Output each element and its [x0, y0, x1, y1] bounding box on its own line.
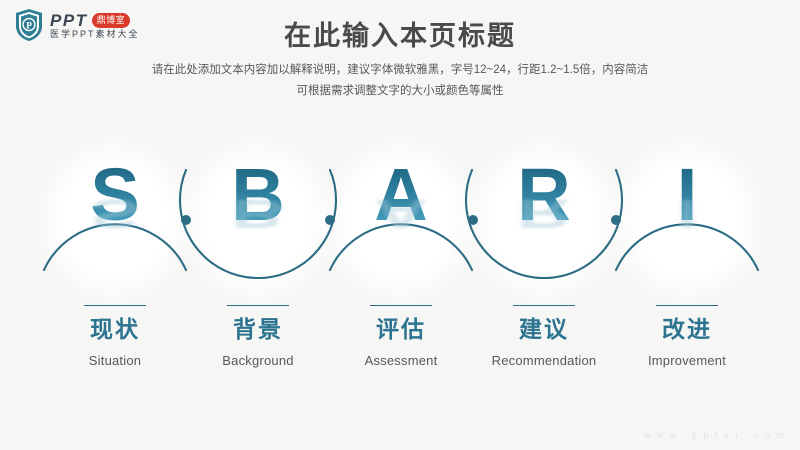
step-labels: 现状 Situation 背景 Background 评估 Assessment… — [0, 305, 800, 400]
subtitle-line-1: 请在此处添加文本内容加以解释说明，建议字体微软雅黑，字号12~24，行距1.2~… — [0, 60, 800, 81]
label-en: Improvement — [607, 354, 767, 368]
label-divider — [370, 305, 432, 306]
acronym-letters: S S B B A A R R I I — [0, 130, 800, 310]
acronym-letter-reflection: A — [321, 193, 481, 234]
label-divider — [84, 305, 146, 306]
label-divider — [227, 305, 289, 306]
label-en: Background — [178, 354, 338, 368]
sbari-diagram: S S B B A A R R I I — [0, 130, 800, 310]
letter-cell-b: B B — [178, 130, 338, 310]
label-en: Recommendation — [464, 354, 624, 368]
label-en: Situation — [35, 354, 195, 368]
label-cn: 改进 — [607, 317, 767, 342]
letter-cell-r: R R — [464, 130, 624, 310]
step-label-situation[interactable]: 现状 Situation — [35, 305, 195, 369]
label-divider — [656, 305, 718, 306]
acronym-letter-reflection: R — [464, 193, 624, 234]
footer-watermark: w w w . p p t e r . c o m — [644, 430, 786, 440]
page-subtitle: 请在此处添加文本内容加以解释说明，建议字体微软雅黑，字号12~24，行距1.2~… — [0, 60, 800, 103]
acronym-letter-reflection: B — [178, 193, 338, 234]
label-divider — [513, 305, 575, 306]
page-title: 在此输入本页标题 — [0, 14, 800, 53]
acronym-letter-reflection: I — [607, 193, 767, 234]
letter-cell-a: A A — [321, 130, 481, 310]
label-cn: 评估 — [321, 317, 481, 342]
step-label-improvement[interactable]: 改进 Improvement — [607, 305, 767, 369]
label-en: Assessment — [321, 354, 481, 368]
letter-cell-s: S S — [35, 130, 195, 310]
label-cn: 建议 — [464, 317, 624, 342]
step-label-background[interactable]: 背景 Background — [178, 305, 338, 369]
step-label-recommendation[interactable]: 建议 Recommendation — [464, 305, 624, 369]
label-cn: 现状 — [35, 317, 195, 342]
subtitle-line-2: 可根据需求调整文字的大小或颜色等属性 — [0, 81, 800, 102]
letter-cell-i: I I — [607, 130, 767, 310]
acronym-letter-reflection: S — [35, 193, 195, 234]
label-cn: 背景 — [178, 317, 338, 342]
step-label-assessment[interactable]: 评估 Assessment — [321, 305, 481, 369]
